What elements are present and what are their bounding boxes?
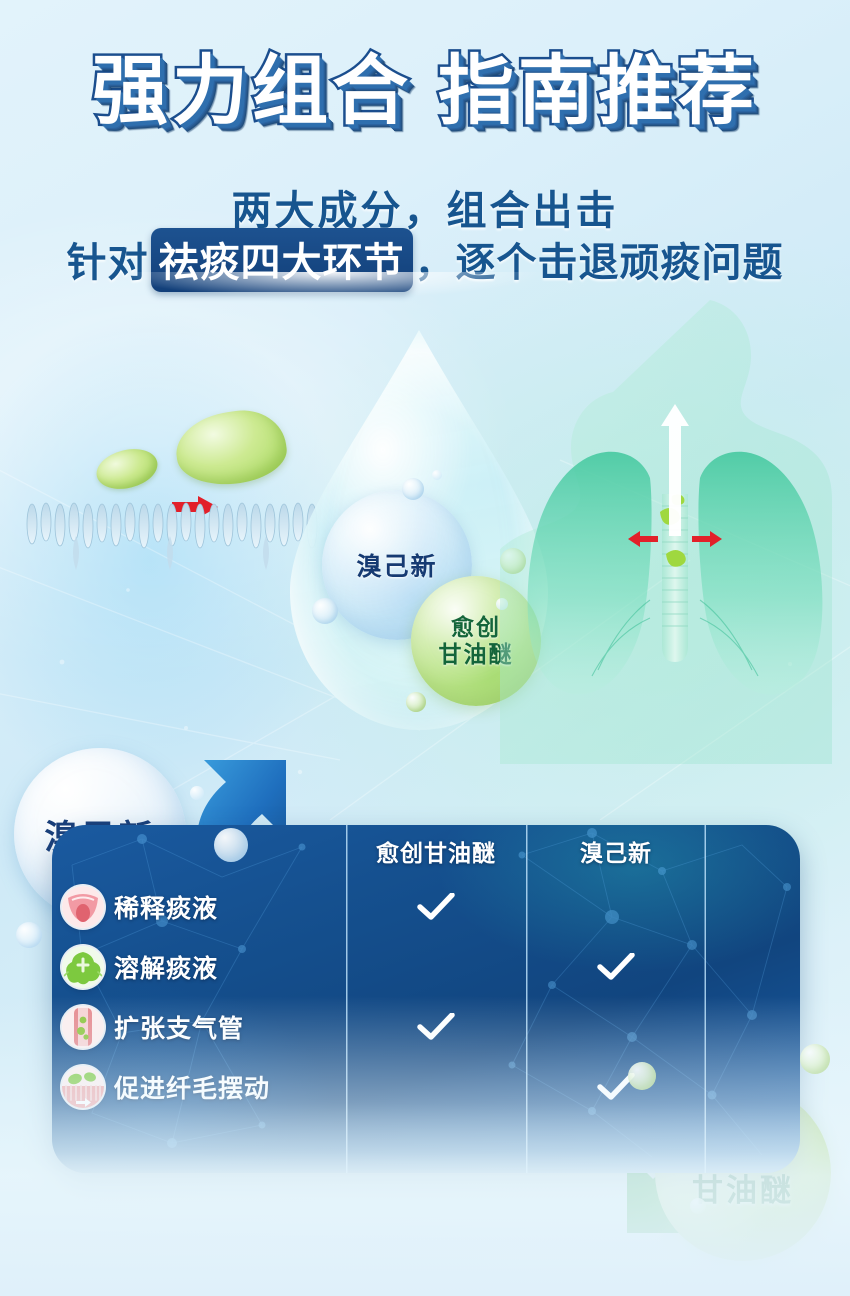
- row-pad-cell: [706, 1057, 800, 1117]
- table-header-label-col: [114, 825, 346, 877]
- mucus-icon: [62, 946, 104, 988]
- cilia-row: [24, 502, 324, 572]
- table-row: 促进纤毛摆动: [52, 1057, 800, 1117]
- table-row: 稀释痰液: [52, 877, 800, 937]
- row-pad-cell: [706, 937, 800, 997]
- checkmark-icon: [596, 953, 636, 981]
- cell-guaifenesin: [346, 1057, 526, 1117]
- table-row: 扩张支气管: [52, 997, 800, 1057]
- rule-label-cell: [114, 1117, 346, 1173]
- subtitle-prefix: 针对: [67, 241, 149, 285]
- row-icon-cell: [52, 937, 114, 997]
- headline-part-1: 强力组合: [92, 49, 412, 134]
- table-bottom-rule: [52, 1117, 800, 1173]
- comparison-panel: 愈创甘油醚 溴己新: [52, 825, 800, 1173]
- cell-guaifenesin: [346, 997, 526, 1057]
- droplet-bubble-blue-label: 溴己新: [356, 547, 437, 583]
- throat-icon: [62, 886, 104, 928]
- subtitle-line-2: 针对祛痰四大环节，逐个击退顽痰问题: [0, 228, 850, 292]
- mucus-blob-small: [92, 443, 161, 495]
- table-header-row: 愈创甘油醚 溴己新: [52, 825, 800, 877]
- cell-bromhexine: [526, 877, 706, 937]
- checkmark-icon: [416, 893, 456, 921]
- row-icon-cell: [52, 997, 114, 1057]
- rule-pad-cell: [706, 1117, 800, 1173]
- headline-part-2: 指南推荐: [438, 49, 758, 134]
- comparison-table: 愈创甘油醚 溴己新: [52, 825, 800, 1173]
- cell-bromhexine: [526, 997, 706, 1057]
- headline-block: 强力组合指南推荐: [0, 52, 850, 131]
- row-pad-cell: [706, 997, 800, 1057]
- stray-bubble-1: [16, 922, 42, 948]
- subtitle-highlight-box: 祛痰四大环节: [151, 228, 413, 292]
- bronchus-icon: [62, 1006, 104, 1048]
- row-label: 促进纤毛摆动: [114, 1057, 346, 1117]
- cilia-illustration: [24, 440, 324, 550]
- rule-guaifenesin-cell: [346, 1117, 526, 1173]
- row-label: 溶解痰液: [114, 937, 346, 997]
- subtitle-suffix: ，逐个击退顽痰问题: [415, 241, 784, 285]
- table-header-icon-col: [52, 825, 114, 877]
- cell-guaifenesin: [346, 877, 526, 937]
- mucus-blob-large: [172, 405, 291, 492]
- page-title: 强力组合指南推荐: [92, 52, 758, 131]
- cell-bromhexine: [526, 937, 706, 997]
- row-label: 稀释痰液: [114, 877, 346, 937]
- rule-icon-cell: [52, 1117, 114, 1173]
- row-icon-cell: [52, 1057, 114, 1117]
- table-row: 溶解痰液: [52, 937, 800, 997]
- cilia-icon: [62, 1066, 104, 1108]
- droplet-bubble-green-label-1: 愈创: [451, 614, 501, 641]
- stray-bubble-5: [800, 1044, 830, 1074]
- rule-bromhexine-cell: [526, 1117, 706, 1173]
- row-pad-cell: [706, 877, 800, 937]
- table-header-bromhexine: 溴己新: [526, 825, 706, 877]
- checkmark-icon: [596, 1073, 636, 1101]
- cell-guaifenesin: [346, 937, 526, 997]
- checkmark-icon: [416, 1013, 456, 1041]
- row-label: 扩张支气管: [114, 997, 346, 1057]
- poster-root: 强力组合指南推荐 两大成分，组合出击 针对祛痰四大环节，逐个击退顽痰问题: [0, 0, 850, 1296]
- row-icon-cell: [52, 877, 114, 937]
- lungs-illustration: [500, 300, 850, 770]
- table-header-guaifenesin: 愈创甘油醚: [346, 825, 526, 877]
- cell-bromhexine: [526, 1057, 706, 1117]
- callout-right-label-2: 甘油醚: [692, 1173, 794, 1209]
- table-header-pad-col: [706, 825, 800, 877]
